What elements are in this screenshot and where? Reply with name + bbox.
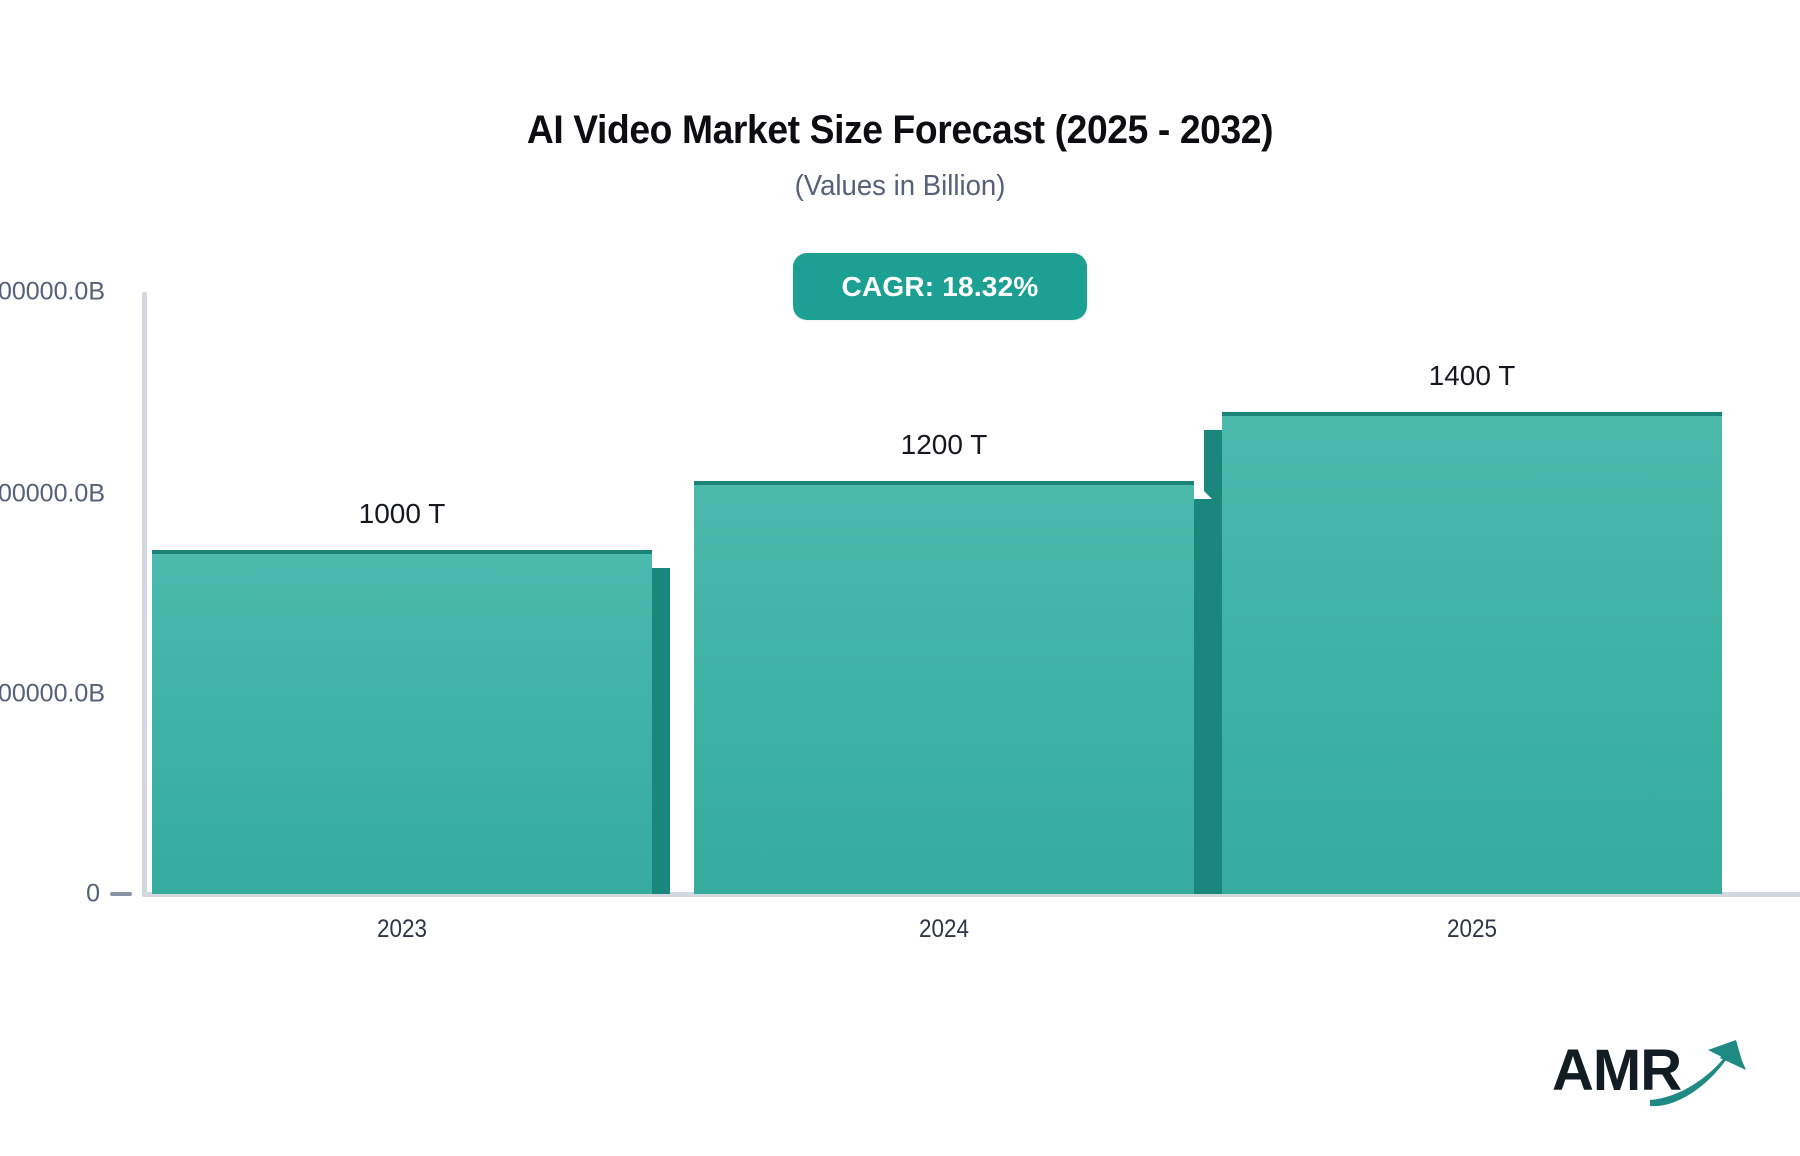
cagr-badge: CAGR: 18.32%	[793, 253, 1087, 320]
x-axis-category-label: 2025	[1247, 915, 1697, 944]
cagr-badge-label: CAGR: 18.32%	[842, 271, 1039, 303]
bar-top-bevel	[652, 550, 670, 568]
x-axis-category-label: 2024	[719, 915, 1169, 944]
bar-value-label: 1000 T	[152, 498, 652, 530]
amr-logo: AMR	[1552, 1034, 1752, 1120]
bar-front-face	[1222, 412, 1722, 894]
y-axis-tick-label: 0	[60, 880, 100, 909]
bar-side-face	[652, 568, 670, 894]
bar-value-label: 1200 T	[694, 429, 1194, 461]
bar-value-label: 1400 T	[1222, 360, 1722, 392]
y-axis-tick-label: 1000000.0B	[0, 480, 105, 509]
bar-side-face	[1204, 430, 1222, 894]
bar-front-face	[152, 550, 652, 894]
bar-front-face	[694, 481, 1194, 894]
y-axis-tick-mark	[110, 892, 132, 896]
y-axis-line	[142, 292, 147, 896]
plot-area: 1500000.0B1000000.0B500000.0B01000 T2023…	[0, 0, 1800, 1156]
bar-top-bevel	[1204, 412, 1222, 430]
y-axis-tick-label: 500000.0B	[0, 680, 105, 709]
x-axis-category-label: 2023	[177, 915, 627, 944]
growth-arrow-icon	[1648, 1038, 1752, 1112]
chart-canvas: AI Video Market Size Forecast (2025 - 20…	[0, 0, 1800, 1156]
bar[interactable]	[694, 481, 1194, 894]
bar[interactable]	[1222, 412, 1722, 894]
y-axis-tick-label: 1500000.0B	[0, 278, 105, 307]
bar[interactable]	[152, 550, 652, 894]
